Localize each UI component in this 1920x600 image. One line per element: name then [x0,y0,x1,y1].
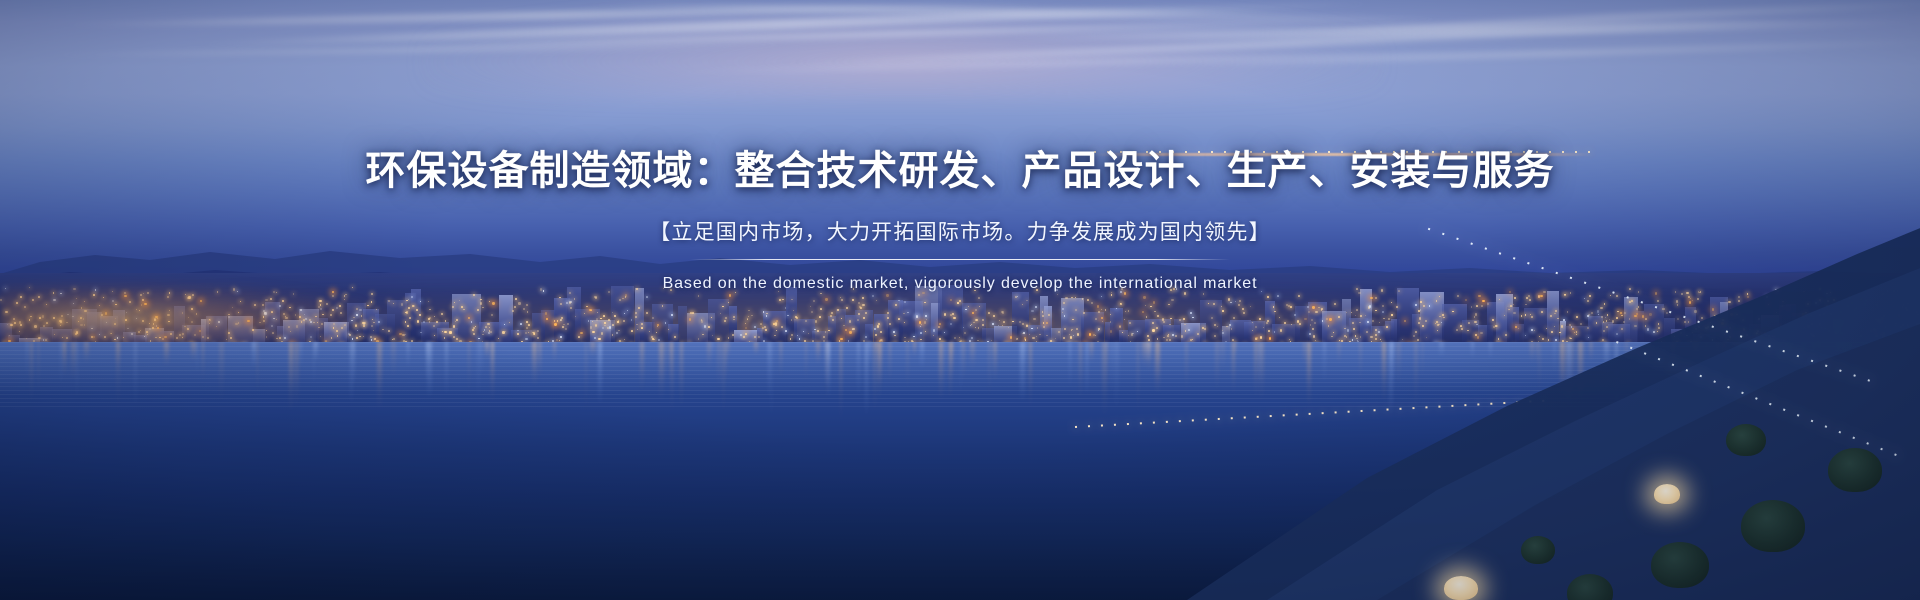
light-reflection [711,342,714,361]
light-reflection [30,342,33,403]
light-reflection [1604,342,1608,374]
light-reflection [1155,342,1160,394]
light-reflection [906,342,909,394]
light-reflection [680,342,683,410]
light-reflection [1872,342,1874,395]
light-reflection [445,342,448,396]
light-reflection [134,342,137,408]
light-reflection [1185,342,1187,394]
light-reflection [491,342,493,403]
light-reflection [1220,342,1224,373]
light-reflection [1722,342,1726,365]
light-reflection [993,342,998,382]
building [452,294,481,348]
light-reflection [1879,342,1881,359]
light-reflection [1215,342,1219,394]
light-reflection [71,342,76,381]
light-reflection [1578,342,1583,405]
light-reflection [1471,342,1475,359]
light-reflection [1079,342,1082,400]
light-reflection [1836,342,1840,360]
light-reflection [1732,342,1736,356]
light-reflection [1706,342,1708,370]
light-reflection [640,342,643,392]
light-reflection [1025,342,1028,366]
light-reflection [816,342,821,365]
light-reflection [1530,342,1534,364]
light-reflection [26,342,28,378]
light-reflection [1137,342,1139,419]
light-reflection [377,342,382,411]
light-reflection [252,342,256,368]
tree-canopy [1726,424,1766,456]
light-reflection [289,342,293,412]
light-reflection [962,342,965,382]
light-reflection [865,342,869,416]
light-reflection [1086,342,1088,395]
light-reflection [553,342,555,363]
river-water [0,342,1920,600]
light-reflection [889,342,892,384]
building [1624,297,1638,348]
light-reflection [427,342,432,398]
building [1547,291,1559,348]
light-reflection [1232,342,1236,394]
light-reflection [988,342,991,398]
light-reflection [116,342,119,416]
light-reflection [659,342,663,401]
banner-headline: 环保设备制造领域：整合技术研发、产品设计、生产、安装与服务 [0,148,1920,194]
light-reflection [585,342,587,419]
light-reflection [595,342,597,359]
light-reflection [949,342,952,398]
light-reflection [873,342,877,412]
light-reflection [878,342,881,387]
light-reflection [539,342,542,378]
light-reflection [717,342,721,392]
light-reflection [1069,342,1071,388]
light-reflection [939,342,943,401]
building [611,286,633,348]
light-reflection [219,342,224,404]
light-reflection [1029,342,1032,408]
light-reflection [1803,342,1805,410]
light-reflection [1553,342,1556,375]
tree-canopy [1828,448,1882,492]
light-reflection [1786,342,1788,387]
light-reflection [1900,342,1904,381]
illuminated-pavilion [1654,484,1680,504]
light-reflection [1671,342,1675,375]
light-reflection [391,342,396,379]
light-reflection [1615,342,1618,416]
light-reflection [1909,342,1913,414]
light-reflection [1422,342,1424,386]
light-reflection [944,342,946,398]
banner-subtitle: 【立足国内市场，大力开拓国际市场。力争发展成为国内领先】 [0,216,1920,246]
light-reflection [486,342,488,356]
light-reflection [1106,342,1109,356]
light-reflection [202,342,204,382]
light-reflection [1864,342,1869,372]
light-reflection [722,342,725,415]
building [1360,289,1371,348]
light-reflection [1538,342,1542,396]
light-reflection [1439,342,1443,357]
light-reflection [1259,342,1261,385]
light-reflection [869,342,871,364]
light-reflection [1716,342,1719,377]
light-reflection [1693,342,1698,361]
building [938,285,963,348]
light-reflection [1663,342,1665,356]
light-reflection [920,342,924,369]
building [1012,292,1029,348]
light-reflection [840,342,842,421]
light-reflection [1737,342,1741,371]
light-reflection [1790,342,1793,384]
light-reflection [913,342,916,357]
light-reflection [191,342,196,362]
light-reflection [164,342,169,367]
light-reflection [1590,342,1592,363]
banner-copy: 环保设备制造领域：整合技术研发、产品设计、生产、安装与服务 【立足国内市场，大力… [0,148,1920,293]
light-reflection [1303,342,1306,368]
light-reflection [754,342,759,356]
building [1200,300,1222,348]
light-reflection [353,342,355,386]
tree-canopy [1741,500,1805,552]
light-reflection [1414,342,1418,411]
hero-banner: 环保设备制造领域：整合技术研发、产品设计、生产、安装与服务 【立足国内市场，大力… [0,0,1920,600]
light-reflection [970,342,975,370]
tree-canopy [1651,542,1709,588]
light-reflection [294,342,299,409]
light-reflection [1563,342,1568,407]
light-reflection [1337,342,1341,365]
light-reflection [1389,342,1393,415]
light-reflection [1489,342,1492,360]
light-reflection [1382,342,1386,401]
light-reflection [84,342,89,364]
light-reflection [63,342,65,376]
light-reflection [1570,342,1574,406]
light-reflection [1111,342,1113,399]
light-reflection [480,342,483,377]
tree-canopy [1521,536,1555,564]
light-reflection [300,342,302,368]
light-reflection [1323,342,1326,383]
light-reflection [1090,342,1093,364]
light-reflection [598,342,602,405]
light-reflection [666,342,668,382]
light-reflection [1359,342,1362,384]
light-reflection [707,342,711,371]
light-reflection [76,342,78,401]
light-reflection [771,342,773,419]
light-reflection [1114,342,1119,411]
light-reflection [1020,342,1024,402]
light-reflection [477,342,481,400]
divider-line [690,259,1230,260]
light-reflection [780,342,782,379]
light-reflection [532,342,537,386]
light-reflection [468,342,470,395]
light-reflection [825,342,829,388]
light-reflection [407,342,409,369]
light-reflection [1142,342,1147,368]
light-reflection [1307,342,1311,407]
light-reflection [1884,342,1887,414]
light-reflection [1843,342,1846,381]
illuminated-pavilion [1444,576,1478,600]
light-reflection [1396,342,1401,385]
light-reflection [38,342,40,399]
light-reflection [590,342,595,357]
light-reflection [727,342,730,359]
light-reflection [60,342,63,386]
light-reflection [257,342,259,400]
light-reflection [805,342,807,384]
building [708,299,730,348]
light-reflection [857,342,859,396]
banner-english-tagline: Based on the domestic market, vigorously… [0,275,1920,293]
light-reflection [1753,342,1755,412]
light-reflection [314,342,318,361]
light-reflection [671,342,673,414]
light-reflection [1147,342,1151,371]
building [1420,292,1444,348]
